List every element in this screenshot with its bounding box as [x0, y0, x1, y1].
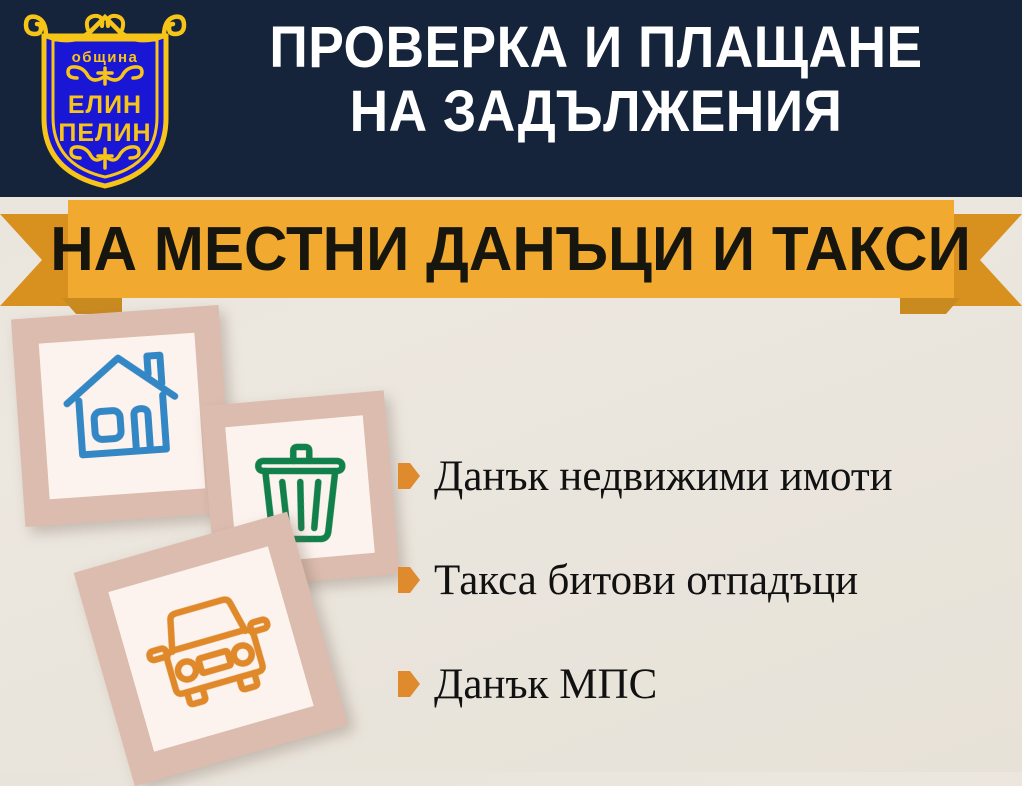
coat-of-arms-icon: община ЕЛИН ПЕЛИН: [22, 6, 188, 192]
ribbon-fold-right: [900, 298, 960, 314]
bullet-arrow-icon: [398, 671, 420, 697]
tax-type-list: Данък недвижими имоти Такса битови отпад…: [398, 424, 1008, 736]
svg-text:ПЕЛИН: ПЕЛИН: [58, 119, 151, 147]
list-item: Такса битови отпадъци: [398, 528, 1008, 632]
list-item-label: Такса битови отпадъци: [434, 559, 858, 602]
ribbon-label: НА МЕСТНИ ДАНЪЦИ И ТАКСИ: [51, 214, 972, 285]
title-line-2: НА ЗАДЪЛЖЕНИЯ: [228, 80, 964, 144]
list-item-label: Данък МПС: [434, 663, 657, 706]
stamp-card-house: [11, 305, 233, 527]
svg-text:ЕЛИН: ЕЛИН: [68, 91, 142, 119]
list-item: Данък МПС: [398, 632, 1008, 736]
municipality-logo: община ЕЛИН ПЕЛИН: [22, 6, 188, 192]
header-banner: община ЕЛИН ПЕЛИН ПРОВЕРКА И ПЛАЩАНЕ НА …: [0, 0, 1022, 197]
list-item-label: Данък недвижими имоти: [434, 455, 893, 498]
page-title: ПРОВЕРКА И ПЛАЩАНЕ НА ЗАДЪЛЖЕНИЯ: [196, 16, 996, 144]
bullet-arrow-icon: [398, 567, 420, 593]
list-item: Данък недвижими имоти: [398, 424, 1008, 528]
title-line-1: ПРОВЕРКА И ПЛАЩАНЕ: [228, 16, 964, 80]
stamp-frame-scallop: [11, 305, 233, 527]
ribbon-main-band: НА МЕСТНИ ДАНЪЦИ И ТАКСИ: [68, 200, 954, 298]
svg-text:община: община: [72, 49, 139, 66]
subtitle-ribbon: НА МЕСТНИ ДАНЪЦИ И ТАКСИ: [0, 196, 1022, 316]
bullet-arrow-icon: [398, 463, 420, 489]
